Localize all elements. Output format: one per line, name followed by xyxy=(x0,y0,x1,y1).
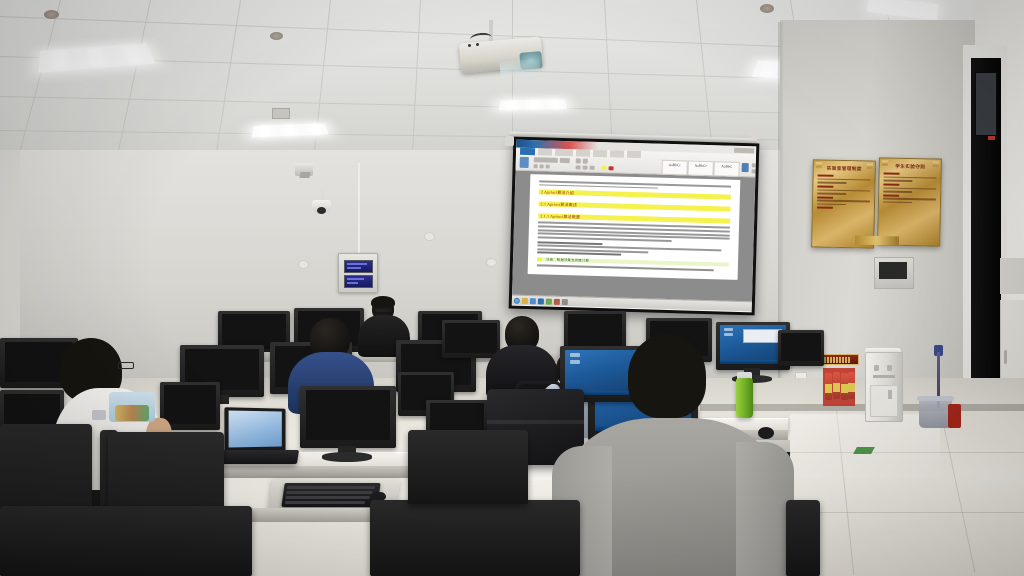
ribbon-tab-layout[interactable] xyxy=(555,149,573,156)
taskbar-item-misc[interactable] xyxy=(562,299,568,305)
body-subheading xyxy=(537,241,729,259)
taskbar-item-explorer[interactable] xyxy=(522,297,528,303)
smoke-detector-icon xyxy=(270,32,283,40)
align-right-icon[interactable] xyxy=(590,166,595,170)
red-container xyxy=(948,404,961,428)
instructor-glasses-icon xyxy=(374,307,393,313)
student-grey-hair xyxy=(628,334,706,418)
chair-back xyxy=(0,506,252,576)
extinguisher-label xyxy=(848,383,855,392)
extinguisher-label xyxy=(833,383,840,392)
bold-icon[interactable] xyxy=(534,164,538,168)
extinguisher-label xyxy=(825,384,832,393)
note-marker-icon xyxy=(537,258,542,262)
projector-cable xyxy=(469,32,492,45)
briefcase-seam xyxy=(487,420,584,424)
screen-left-bracket xyxy=(505,136,514,146)
wall-outlet xyxy=(298,260,309,269)
projection-screen: AaBbCc AaBbCc AaBbC 2 Apriori算法介绍 xyxy=(509,137,760,316)
control-panel[interactable] xyxy=(338,253,378,293)
italic-icon[interactable] xyxy=(540,164,544,168)
align-center-icon[interactable] xyxy=(583,166,588,170)
wall-terminal-screen xyxy=(879,262,907,279)
intro-paragraph xyxy=(539,180,731,191)
style-heading1[interactable]: AaBbC xyxy=(713,161,739,177)
body-paragraph-1 xyxy=(538,222,730,244)
desktop-monitor xyxy=(778,330,824,366)
classroom-photo: 实验室管理制度 学生实验守则 xyxy=(0,0,1024,576)
bag-contents xyxy=(115,405,149,421)
text-color-icon[interactable] xyxy=(609,166,614,170)
wall-niche xyxy=(1000,258,1024,294)
cooler-tap-hot[interactable] xyxy=(874,365,879,371)
plaque-bottom-emblem xyxy=(855,236,899,246)
ribbon-tab-references[interactable] xyxy=(576,149,590,156)
cabinet-handle[interactable] xyxy=(1004,350,1007,364)
align-left-icon[interactable] xyxy=(576,165,581,169)
system-tray-clock xyxy=(734,148,754,154)
doc-heading-1: 2 Apriori算法介绍 xyxy=(539,190,731,200)
change-styles-icon[interactable] xyxy=(742,163,749,172)
ribbon-tab-review[interactable] xyxy=(610,150,624,157)
projected-image: AaBbCc AaBbCc AaBbC 2 Apriori算法介绍 xyxy=(512,140,757,313)
wall-plaque-2: 学生实验守则 xyxy=(877,157,942,246)
word-document-canvas: 2 Apriori算法介绍 2.1 Apriori算法概述 2.1.1 Apri… xyxy=(512,171,755,302)
wall-outlet xyxy=(486,258,497,267)
screen-right-bracket xyxy=(750,129,759,139)
replace-icon[interactable] xyxy=(752,169,756,173)
desktop-mouse[interactable] xyxy=(758,427,774,439)
taskbar-item-misc[interactable] xyxy=(554,298,560,304)
ribbon-tab-mailings[interactable] xyxy=(593,150,607,157)
wall-conduit xyxy=(358,163,360,255)
laptop-keyboard-base[interactable] xyxy=(215,450,299,464)
font-size-box[interactable] xyxy=(560,158,570,163)
door-window xyxy=(975,72,997,136)
cooler-drip-tray xyxy=(873,375,895,378)
underline-icon[interactable] xyxy=(546,165,550,169)
ribbon-tab-view[interactable] xyxy=(627,151,641,158)
desktop-monitor xyxy=(300,386,396,448)
number-list-icon[interactable] xyxy=(583,159,588,164)
floor-marker-tile xyxy=(853,447,875,454)
word-page: 2 Apriori算法介绍 2.1 Apriori算法概述 2.1.1 Apri… xyxy=(528,174,741,280)
ceiling-vent xyxy=(272,108,290,119)
wall-outlet xyxy=(424,232,435,241)
fire-equipment-sign xyxy=(821,354,859,365)
doc-heading-2: 2.1 Apriori算法概述 xyxy=(538,202,730,212)
chair-back xyxy=(408,430,528,504)
bucket-rim xyxy=(917,396,954,401)
ribbon-tab-insert[interactable] xyxy=(538,148,552,155)
led-display-bottom xyxy=(344,275,373,288)
plaque-title: 实验室管理制度 xyxy=(818,165,871,172)
smoke-detector-icon xyxy=(44,10,59,19)
extinguisher-label xyxy=(841,384,848,393)
ribbon-tab-home[interactable] xyxy=(520,148,535,155)
find-icon[interactable] xyxy=(752,163,756,167)
taskbar-item-media[interactable] xyxy=(546,298,552,304)
smoke-detector-icon xyxy=(760,4,774,13)
keyboard[interactable] xyxy=(281,483,380,507)
door-sign xyxy=(988,136,995,140)
start-button[interactable] xyxy=(514,297,520,303)
desktop-window xyxy=(743,329,783,343)
laptop-screen xyxy=(229,410,282,447)
speaker-bracket xyxy=(299,172,310,178)
student-white-logo xyxy=(92,410,106,420)
student-white-glasses-icon xyxy=(118,362,134,369)
highlight-icon[interactable] xyxy=(602,166,607,170)
taskbar-item-word[interactable] xyxy=(538,298,544,304)
cooler-tap-cold[interactable] xyxy=(887,365,892,371)
led-display-top xyxy=(344,260,373,273)
desktop-monitor xyxy=(442,320,500,358)
taskbar-item-browser[interactable] xyxy=(530,298,536,304)
windows-desktop xyxy=(720,325,785,363)
camera-lens-icon xyxy=(317,207,326,214)
style-nospacing[interactable]: AaBbCc xyxy=(687,160,713,176)
water-bottle xyxy=(736,378,753,418)
ceiling-light-panel xyxy=(499,99,567,110)
fire-extinguisher-rack xyxy=(823,368,855,406)
plaque-title: 学生实验守则 xyxy=(884,163,937,170)
font-name-box[interactable] xyxy=(534,157,558,163)
monitor-base xyxy=(322,452,372,462)
water-cooler-door[interactable] xyxy=(870,385,898,417)
water-cooler-handle[interactable] xyxy=(888,390,892,399)
clipboard-icon[interactable] xyxy=(520,157,529,168)
chair-back xyxy=(786,500,820,576)
taskbar xyxy=(720,360,785,363)
bullet-list-icon[interactable] xyxy=(576,158,581,163)
style-normal[interactable]: AaBbCc xyxy=(661,160,687,176)
chair-back xyxy=(370,500,580,576)
